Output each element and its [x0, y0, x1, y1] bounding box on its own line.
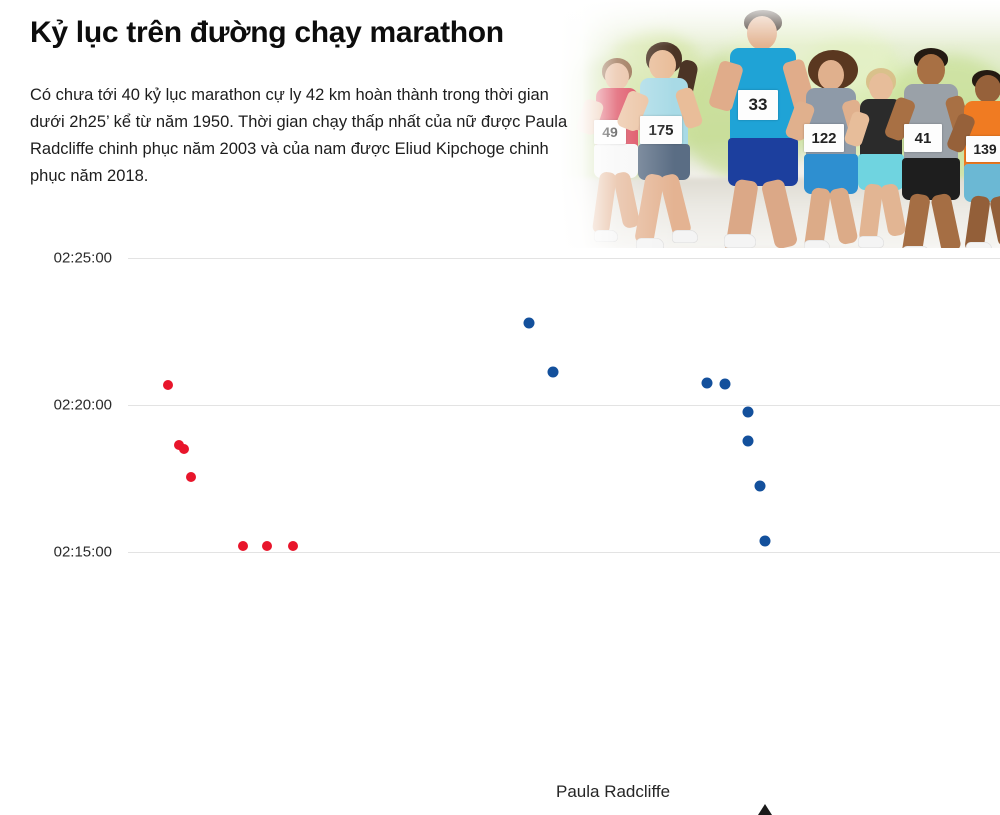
scatter-chart: 02:25:0002:20:0002:15:00 Paula Radcliffe [0, 248, 1000, 563]
photo-background: 49 175 [560, 0, 1000, 248]
page-title: Kỷ lục trên đường chạy marathon [30, 14, 504, 52]
head [747, 16, 777, 50]
marathon-runners-photo: 49 175 [560, 0, 1000, 248]
shoe [858, 236, 884, 248]
leg [901, 193, 931, 248]
shoe [966, 242, 992, 248]
shorts [638, 144, 690, 180]
data-point [163, 380, 173, 390]
bib-number: 122 [804, 124, 844, 152]
gridline [128, 258, 1000, 259]
gridline [128, 552, 1000, 553]
data-point [288, 541, 298, 551]
y-axis-tick-label: 02:25:00 [0, 250, 112, 267]
y-axis-tick-label: 02:15:00 [0, 544, 112, 561]
head [917, 54, 945, 86]
intro-paragraph: Có chưa tới 40 kỷ lục marathon cự ly 42 … [30, 82, 570, 190]
data-point [760, 536, 771, 547]
head [818, 60, 844, 90]
header: Kỷ lục trên đường chạy marathon Có chưa … [0, 0, 1000, 248]
shoe [672, 230, 698, 243]
leg [989, 195, 1000, 248]
data-point [186, 472, 196, 482]
data-point [755, 481, 766, 492]
data-point [743, 407, 754, 418]
runner-139: 139 [956, 70, 1000, 248]
data-point [720, 379, 731, 390]
data-point [179, 444, 189, 454]
data-point [743, 436, 754, 447]
shoe [594, 230, 618, 242]
y-axis-tick-label: 02:20:00 [0, 397, 112, 414]
data-point [702, 378, 713, 389]
head [649, 50, 676, 80]
shoe [636, 238, 664, 248]
leg [659, 173, 692, 238]
head [975, 75, 1000, 103]
data-point [524, 318, 535, 329]
leg [804, 187, 831, 248]
shoe [902, 246, 930, 248]
data-point [548, 367, 559, 378]
data-point [262, 541, 272, 551]
data-point [238, 541, 248, 551]
annotation-arrow-icon [758, 804, 772, 815]
bib-number: 139 [966, 136, 1000, 162]
bib-number: 33 [738, 90, 778, 120]
bib-number: 41 [904, 124, 942, 152]
bib-number: 175 [640, 116, 682, 144]
leg [964, 195, 991, 248]
shorts [902, 158, 960, 200]
shoe [804, 240, 830, 248]
annotation-paula-radcliffe: Paula Radcliffe [556, 782, 670, 802]
gridline [128, 405, 1000, 406]
shoe [724, 234, 756, 248]
